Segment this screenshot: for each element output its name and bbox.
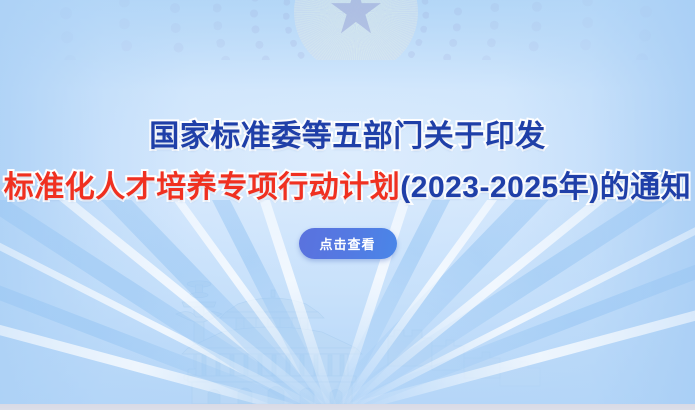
banner-title-line-1: 国家标准委等五部门关于印发: [149, 122, 546, 152]
view-details-button[interactable]: 点击查看: [299, 228, 397, 259]
bottom-divider: [0, 404, 695, 410]
notice-banner: 国家标准委等五部门关于印发 标准化人才培养专项行动计划(2023-2025年)的…: [0, 0, 695, 410]
banner-content: 国家标准委等五部门关于印发 标准化人才培养专项行动计划(2023-2025年)的…: [0, 0, 695, 410]
banner-title-line-2: 标准化人才培养专项行动计划(2023-2025年)的通知: [4, 173, 691, 203]
banner-title-highlight: 标准化人才培养专项行动计划: [4, 171, 401, 204]
banner-title-suffix: (2023-2025年)的通知: [400, 171, 691, 204]
